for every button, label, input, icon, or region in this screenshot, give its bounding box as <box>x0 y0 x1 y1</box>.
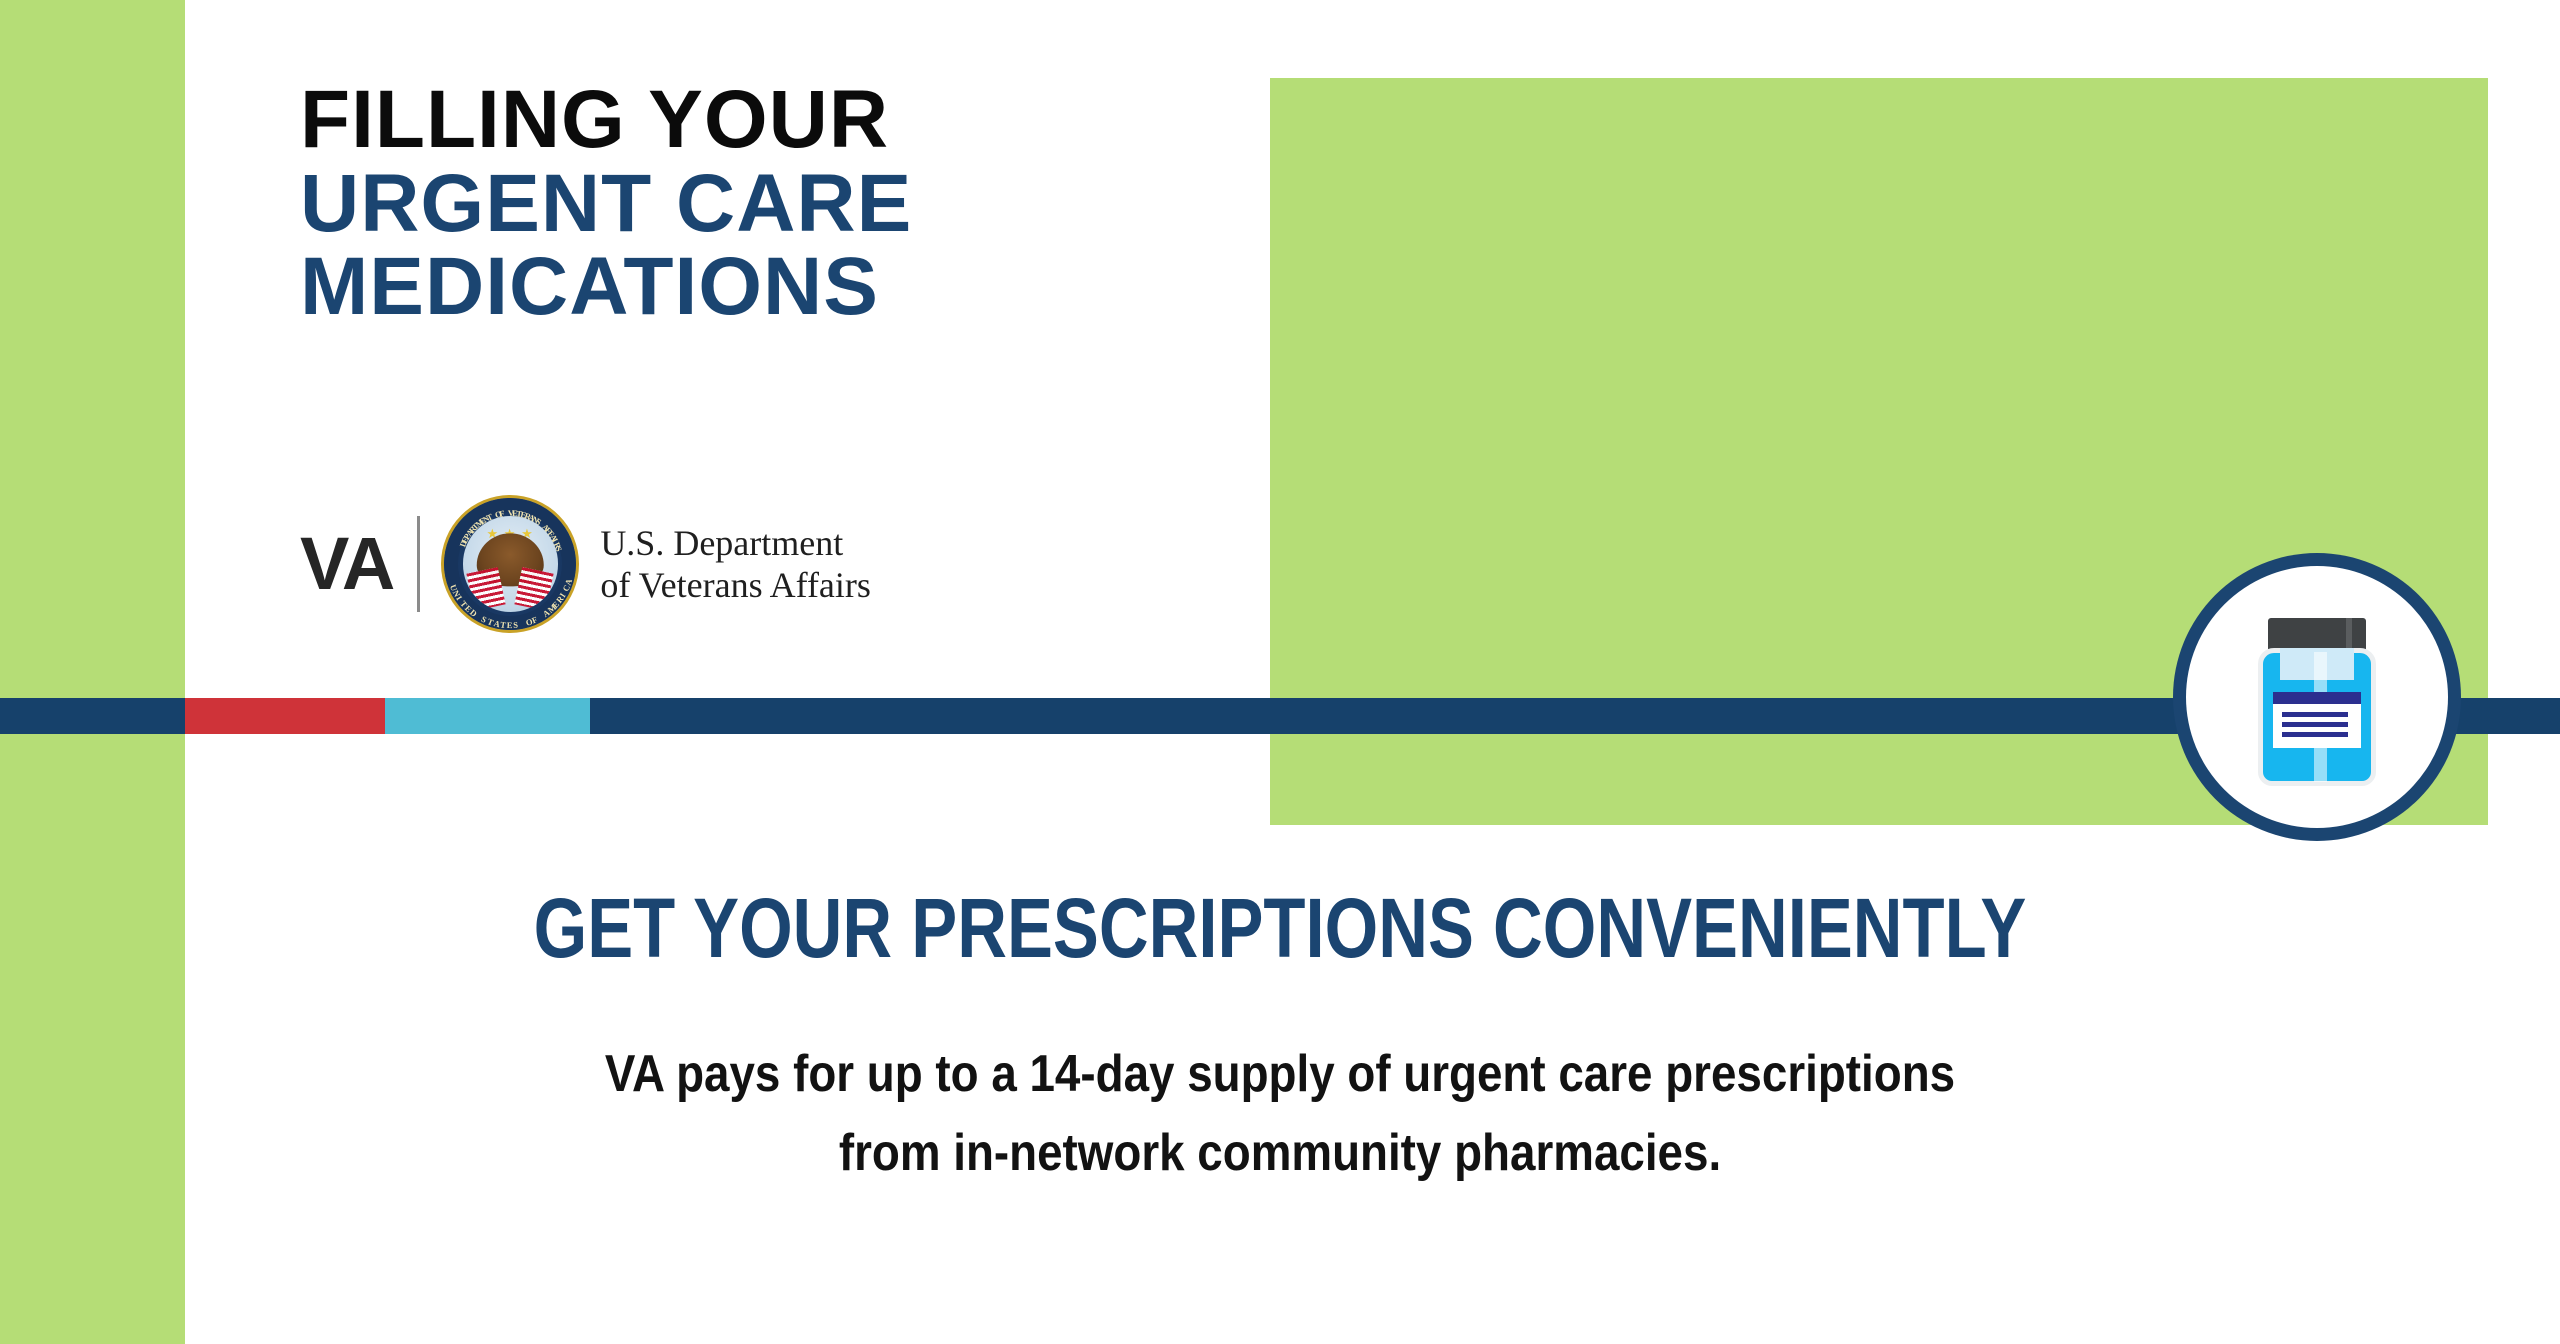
va-wordmark: VA <box>300 527 393 601</box>
pill-bottle-icon <box>2258 618 2376 786</box>
bottle-cap <box>2268 618 2366 652</box>
lockup-divider <box>417 516 420 612</box>
department-line-1: U.S. Department <box>600 522 871 564</box>
headline-line-1: FILLING YOUR <box>300 78 1200 162</box>
headline-line-2: URGENT CARE <box>300 162 1200 246</box>
headline-line-3: MEDICATIONS <box>300 245 1200 329</box>
body-line-1: VA pays for up to a 14-day supply of urg… <box>154 1035 2407 1114</box>
stripe-segment-cyan <box>385 698 590 734</box>
stripe-segment-red <box>185 698 385 734</box>
headline-block: FILLING YOUR URGENT CARE MEDICATIONS <box>300 78 1200 329</box>
subheadline: GET YOUR PRESCRIPTIONS CONVENIENTLY <box>230 880 2329 977</box>
bottle-label-bar <box>2273 692 2361 704</box>
va-seal-icon: DEPARTMENT OF VETERANS AFFAIRSUNITED STA… <box>444 498 576 630</box>
bottle-label-line <box>2282 712 2348 717</box>
body-line-2: from in-network community pharmacies. <box>154 1114 2407 1193</box>
pill-bottle-badge <box>2186 566 2448 828</box>
bottle-label-line <box>2282 732 2348 737</box>
va-logo-lockup: VA DEPARTMENT OF VETERANS AFFAIRSUNITED … <box>300 498 871 630</box>
poster-canvas: Rx FILLING YOUR URGENT CARE MEDICATIONS … <box>0 0 2560 1344</box>
color-stripe <box>0 698 2560 734</box>
bottle-label-line <box>2282 722 2348 727</box>
department-line-2: of Veterans Affairs <box>600 564 871 606</box>
body-copy: VA pays for up to a 14-day supply of urg… <box>154 1035 2407 1193</box>
department-name: U.S. Department of Veterans Affairs <box>600 522 871 607</box>
